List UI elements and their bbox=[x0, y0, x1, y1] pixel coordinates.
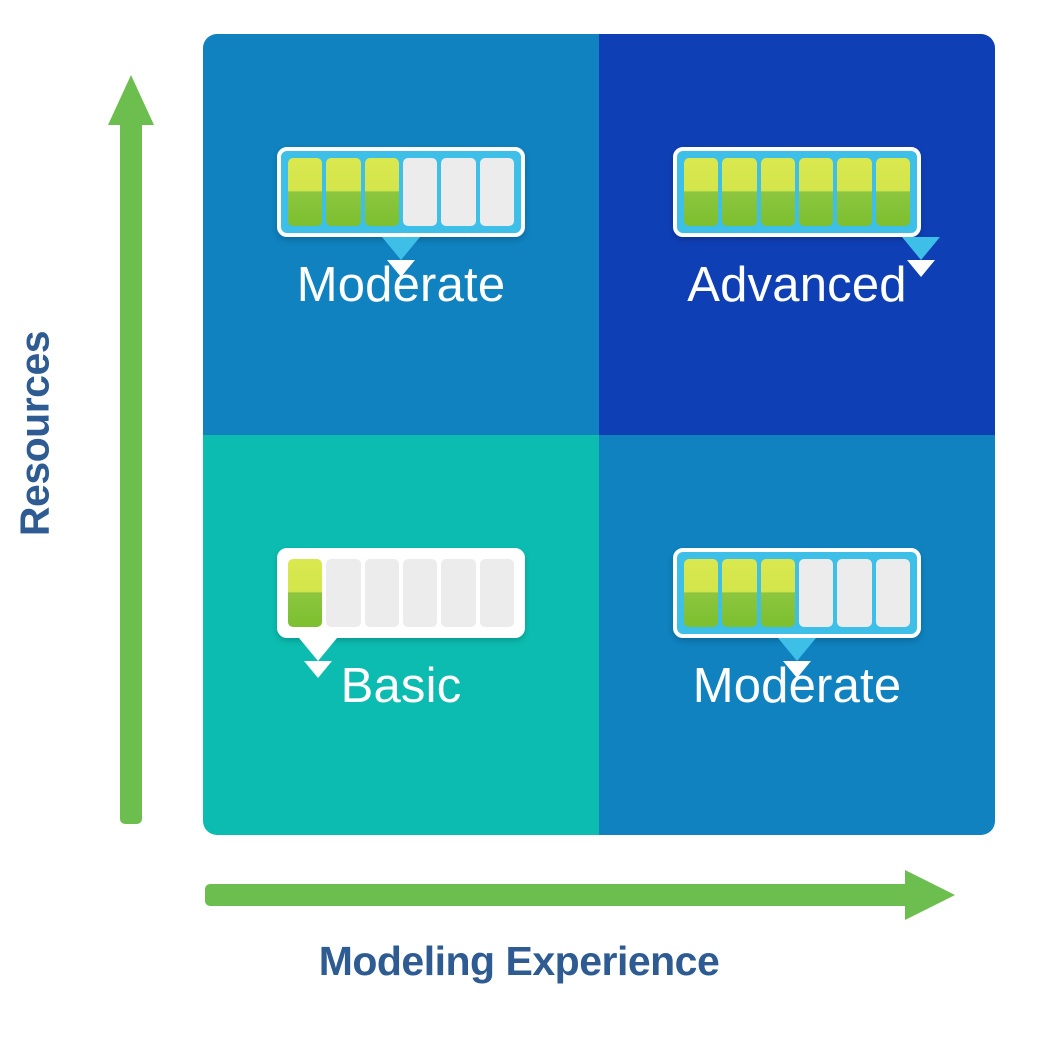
gauge-segment bbox=[722, 158, 756, 226]
x-axis-arrow-head-icon bbox=[905, 870, 955, 920]
gauge-segment bbox=[288, 559, 322, 627]
gauge-track bbox=[277, 147, 525, 237]
gauge-track bbox=[673, 147, 921, 237]
gauge-segment bbox=[326, 158, 360, 226]
gauge-segment bbox=[441, 158, 475, 226]
gauge-top-right bbox=[673, 147, 921, 237]
quadrant-top-left[interactable]: Moderate bbox=[203, 34, 599, 435]
gauge-pointer-icon bbox=[902, 237, 940, 260]
gauge-segment bbox=[761, 559, 795, 627]
quadrant-label-bottom-left: Basic bbox=[341, 662, 462, 711]
x-axis-arrow-shaft-icon bbox=[205, 884, 917, 906]
gauge-segment bbox=[722, 559, 756, 627]
quadrant-bottom-right[interactable]: Moderate bbox=[599, 435, 995, 836]
gauge-top-left bbox=[277, 147, 525, 237]
gauge-track bbox=[673, 548, 921, 638]
gauge-segment bbox=[480, 158, 514, 226]
gauge-pointer-icon bbox=[299, 638, 337, 661]
y-axis-label: Resources bbox=[12, 304, 59, 564]
y-axis-arrow-shaft-icon bbox=[120, 112, 142, 824]
gauge-segment bbox=[326, 559, 360, 627]
gauge-segment bbox=[799, 559, 833, 627]
gauge-segment bbox=[403, 559, 437, 627]
gauge-segment bbox=[876, 158, 910, 226]
gauge-segment bbox=[837, 158, 871, 226]
gauge-pointer-icon bbox=[382, 237, 420, 260]
quadrant-label-top-right: Advanced bbox=[687, 261, 907, 310]
quadrant-matrix-diagram: Resources Modeling Experience Moderate A… bbox=[0, 0, 1038, 1041]
gauge-pointer-icon bbox=[778, 638, 816, 661]
gauge-segment bbox=[441, 559, 475, 627]
gauge-segment bbox=[684, 559, 718, 627]
gauge-segment bbox=[761, 158, 795, 226]
gauge-segment bbox=[365, 158, 399, 226]
gauge-segment bbox=[480, 559, 514, 627]
x-axis-label: Modeling Experience bbox=[0, 938, 1038, 985]
gauge-segment bbox=[365, 559, 399, 627]
matrix-grid: Moderate Advanced Basic bbox=[203, 34, 995, 835]
gauge-track bbox=[277, 548, 525, 638]
gauge-segment bbox=[876, 559, 910, 627]
gauge-bottom-left bbox=[277, 548, 525, 638]
quadrant-top-right[interactable]: Advanced bbox=[599, 34, 995, 435]
gauge-segment bbox=[799, 158, 833, 226]
gauge-segment bbox=[403, 158, 437, 226]
gauge-segment bbox=[837, 559, 871, 627]
gauge-segment bbox=[288, 158, 322, 226]
gauge-segment bbox=[684, 158, 718, 226]
gauge-bottom-right bbox=[673, 548, 921, 638]
quadrant-bottom-left[interactable]: Basic bbox=[203, 435, 599, 836]
